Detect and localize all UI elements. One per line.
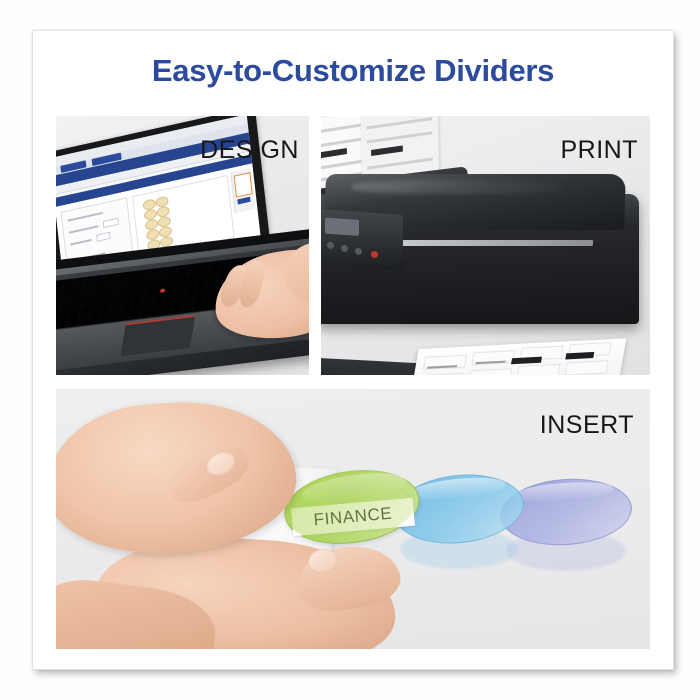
product-image-card: Easy-to-Customize Dividers — [32, 30, 674, 670]
app-thumbnail-rail — [230, 168, 255, 214]
printer-output-slot — [393, 240, 593, 246]
printed-divider-sheet — [408, 338, 627, 375]
screenshot-stage: Easy-to-Customize Dividers — [0, 0, 700, 700]
printer-lid-highlight — [351, 180, 561, 194]
printer-button-2[interactable] — [341, 245, 348, 252]
panel-design: DESIGN — [56, 116, 309, 375]
panel-tag-print: PRINT — [561, 136, 639, 165]
panel-insert: FINANCE INSERT — [56, 389, 650, 649]
printer-button-1[interactable] — [327, 242, 334, 249]
page-title: Easy-to-Customize Dividers — [33, 53, 673, 89]
panel-tag-design: DESIGN — [200, 136, 299, 165]
panel-print: PRINT — [321, 116, 650, 375]
printer-power-button[interactable] — [371, 251, 378, 258]
printer-button-3[interactable] — [355, 248, 362, 255]
printer-control-panel[interactable] — [321, 209, 403, 271]
panel-tag-insert: INSERT — [540, 411, 634, 440]
printer-lcd-display — [325, 218, 359, 236]
printer-body — [321, 194, 639, 324]
